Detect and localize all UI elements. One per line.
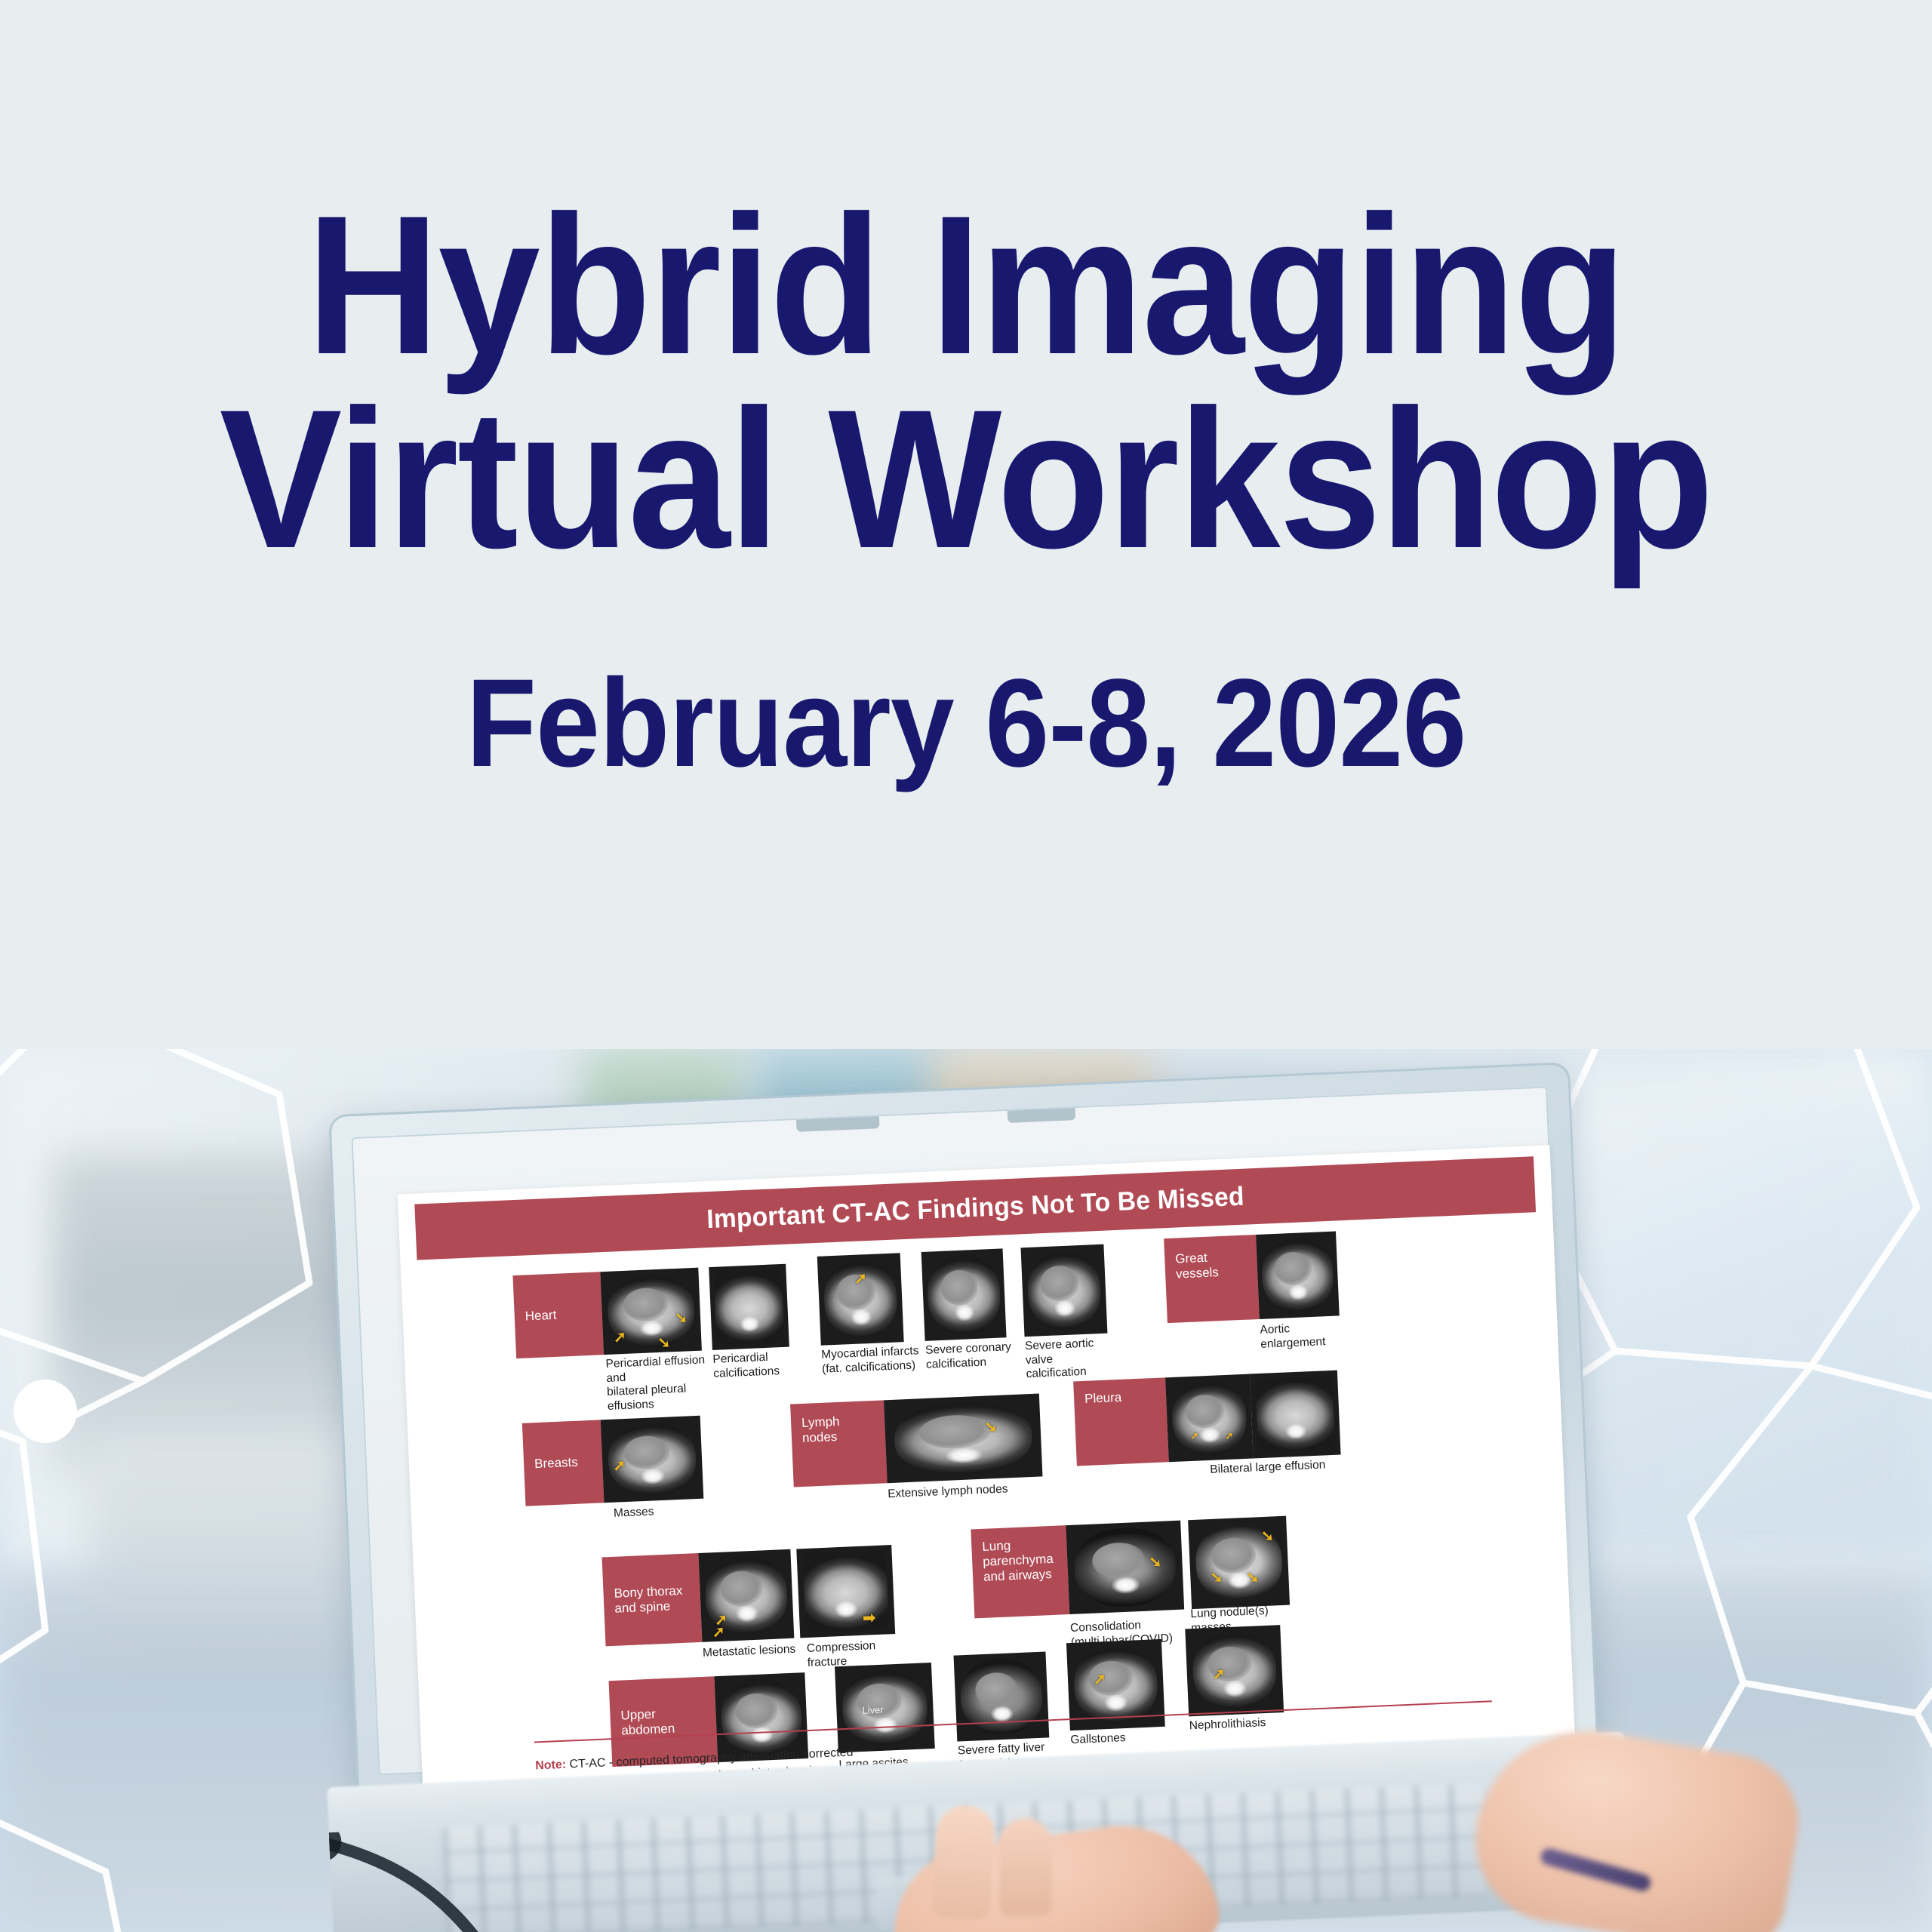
ct-image-metastatic-lesions: ➚ ➚ <box>698 1549 794 1642</box>
slide-title: Important CT-AC Findings Not To Be Misse… <box>706 1182 1244 1235</box>
category-text: Upper abdomen <box>620 1705 706 1739</box>
section-lymph-nodes: Lymph nodes ➘ <box>790 1394 1042 1487</box>
category-text: Lung parenchyma and airways <box>982 1537 1057 1585</box>
annotation-arrow-icon: ➚ <box>1212 1666 1226 1682</box>
annotation-arrow-icon: ➚ <box>614 1330 627 1346</box>
annotation-arrow-icon: ➚ <box>613 1458 626 1474</box>
ct-image-pericardial-calcifications <box>709 1264 789 1350</box>
laptop-hinge-right <box>1008 1108 1076 1123</box>
ct-image-lung-nodules: ➘ ➘ ➘ <box>1188 1516 1290 1609</box>
caption-severe-aortic-valve-calcification: Severe aortic valve calcification <box>1025 1336 1121 1382</box>
caption-extensive-lymph-nodes: Extensive lymph nodes <box>888 1481 1032 1502</box>
laptop-lid: Important CT-AC Findings Not To Be Misse… <box>328 1062 1598 1798</box>
annotation-arrow-icon: ➚ <box>854 1271 868 1287</box>
annotation-arrow-icon: ➘ <box>675 1310 688 1326</box>
laptop-bezel: Important CT-AC Findings Not To Be Misse… <box>351 1086 1574 1775</box>
laptop-screen[interactable]: Important CT-AC Findings Not To Be Misse… <box>398 1145 1576 1798</box>
annotation-arrow-icon: ➘ <box>1261 1528 1275 1544</box>
caption-pericardial-calcifications: Pericardial calcifications <box>712 1349 796 1381</box>
annotation-arrow-icon: ➘ <box>1246 1570 1260 1586</box>
category-text: Breasts <box>534 1455 578 1472</box>
caption-masses: Masses <box>614 1503 705 1521</box>
laptop: Important CT-AC Findings Not To Be Misse… <box>327 1049 1601 1932</box>
slide-body: Heart ➚ ➘ ➘ Pericardial effus <box>401 1217 1576 1798</box>
finger-index <box>931 1804 997 1921</box>
caption-aortic-enlargement: Aortic enlargement <box>1260 1320 1343 1352</box>
category-label-bony-thorax: Bony thorax and spine <box>602 1553 703 1646</box>
annotation-arrow-icon: ➘ <box>657 1335 671 1351</box>
ct-image-large-ascites: Liver <box>835 1663 935 1752</box>
laptop-hinge-left <box>796 1116 880 1132</box>
title-line-1: Hybrid Imaging <box>159 189 1774 383</box>
category-label-pleura: Pleura <box>1073 1377 1169 1466</box>
category-text: Heart <box>525 1308 556 1324</box>
stethoscope-icon <box>329 1818 681 1932</box>
section-heart: Heart ➚ ➘ ➘ <box>512 1268 701 1358</box>
caption-myocardial-infarcts: Myocardial infarcts (fat. calcifications… <box>821 1344 920 1377</box>
category-label-lung-parenchyma: Lung parenchyma and airways <box>971 1525 1069 1618</box>
category-text: Bony thorax and spine <box>614 1583 691 1617</box>
liver-label: Liver <box>862 1704 884 1716</box>
ct-image-severe-coronary-calcification <box>921 1248 1007 1341</box>
hero-panel: Hybrid Imaging Virtual Workshop February… <box>0 0 1932 1051</box>
section-lung-parenchyma: Lung parenchyma and airways ➘ ➘ <box>971 1516 1290 1619</box>
ct-image-extensive-lymph-nodes: ➘ <box>884 1394 1043 1484</box>
ct-image-aortic-enlargement <box>1256 1232 1340 1319</box>
ct-image-bilateral-effusion-axial: ➚ ➚ <box>1165 1374 1254 1463</box>
ct-image-bilateral-effusion-coronal <box>1250 1371 1341 1459</box>
finger-middle <box>998 1818 1052 1917</box>
event-date: February 6-8, 2026 <box>168 661 1764 786</box>
annotation-arrow-icon: ➚ <box>1094 1672 1107 1687</box>
section-pleura: Pleura ➚ ➚ <box>1073 1371 1340 1466</box>
ct-image-nephrolithiasis: ➚ <box>1185 1625 1284 1716</box>
page-title: Hybrid Imaging Virtual Workshop <box>159 189 1774 577</box>
annotation-arrow-icon: ➘ <box>984 1420 998 1435</box>
category-label-great-vessels: Great vessels <box>1164 1235 1260 1323</box>
ct-image-breast-masses: ➚ <box>601 1416 704 1503</box>
category-label-lymph-nodes: Lymph nodes <box>790 1400 888 1487</box>
annotation-arrow-icon: ➡ <box>863 1611 876 1626</box>
ct-image-compression-fracture: ➡ <box>796 1545 895 1638</box>
poster-canvas: Hybrid Imaging Virtual Workshop February… <box>0 0 1932 1932</box>
category-label-heart: Heart <box>512 1272 604 1358</box>
annotation-arrow-icon: ➚ <box>712 1625 725 1641</box>
caption-bilateral-large-effusion: Bilateral large effusion <box>1210 1457 1354 1478</box>
title-line-2: Virtual Workshop <box>159 383 1774 577</box>
annotation-arrow-icon: ➘ <box>1210 1570 1223 1586</box>
ct-image-severe-fatty-liver <box>954 1651 1050 1741</box>
caption-metastatic-lesions: Metastatic lesions <box>703 1642 801 1660</box>
caption-gallstones: Gallstones <box>1070 1730 1154 1747</box>
ct-image-consolidation: ➘ <box>1066 1521 1184 1614</box>
caption-nephrolithiasis: Nephrolithiasis <box>1189 1715 1280 1734</box>
caption-severe-coronary-calcification: Severe coronary calcification <box>925 1340 1017 1372</box>
ct-image-severe-aortic-valve-calcification <box>1020 1244 1107 1337</box>
ct-image-pericardial-effusion: ➚ ➘ ➘ <box>600 1268 702 1355</box>
note-prefix: Note: <box>535 1758 567 1773</box>
section-breasts: Breasts ➚ <box>522 1416 703 1506</box>
annotation-arrow-icon: ➘ <box>1149 1555 1162 1571</box>
category-text: Great vessels <box>1175 1249 1247 1282</box>
photo-panel: Important CT-AC Findings Not To Be Misse… <box>0 1049 1932 1932</box>
annotation-arrow-icon: ➚ <box>1225 1431 1233 1441</box>
presentation-slide: Important CT-AC Findings Not To Be Misse… <box>398 1145 1576 1798</box>
category-text: Pleura <box>1084 1390 1122 1407</box>
section-great-vessels: Great vessels <box>1164 1232 1340 1324</box>
ct-image-myocardial-infarcts: ➚ <box>817 1253 904 1346</box>
category-label-breasts: Breasts <box>522 1420 605 1506</box>
category-text: Lymph nodes <box>801 1413 875 1446</box>
annotation-arrow-icon: ➚ <box>1190 1431 1198 1441</box>
section-bony-thorax: Bony thorax and spine ➚ ➚ <box>602 1545 896 1646</box>
caption-pericardial-effusion: Pericardial effusion and bilateral pleur… <box>605 1352 728 1414</box>
